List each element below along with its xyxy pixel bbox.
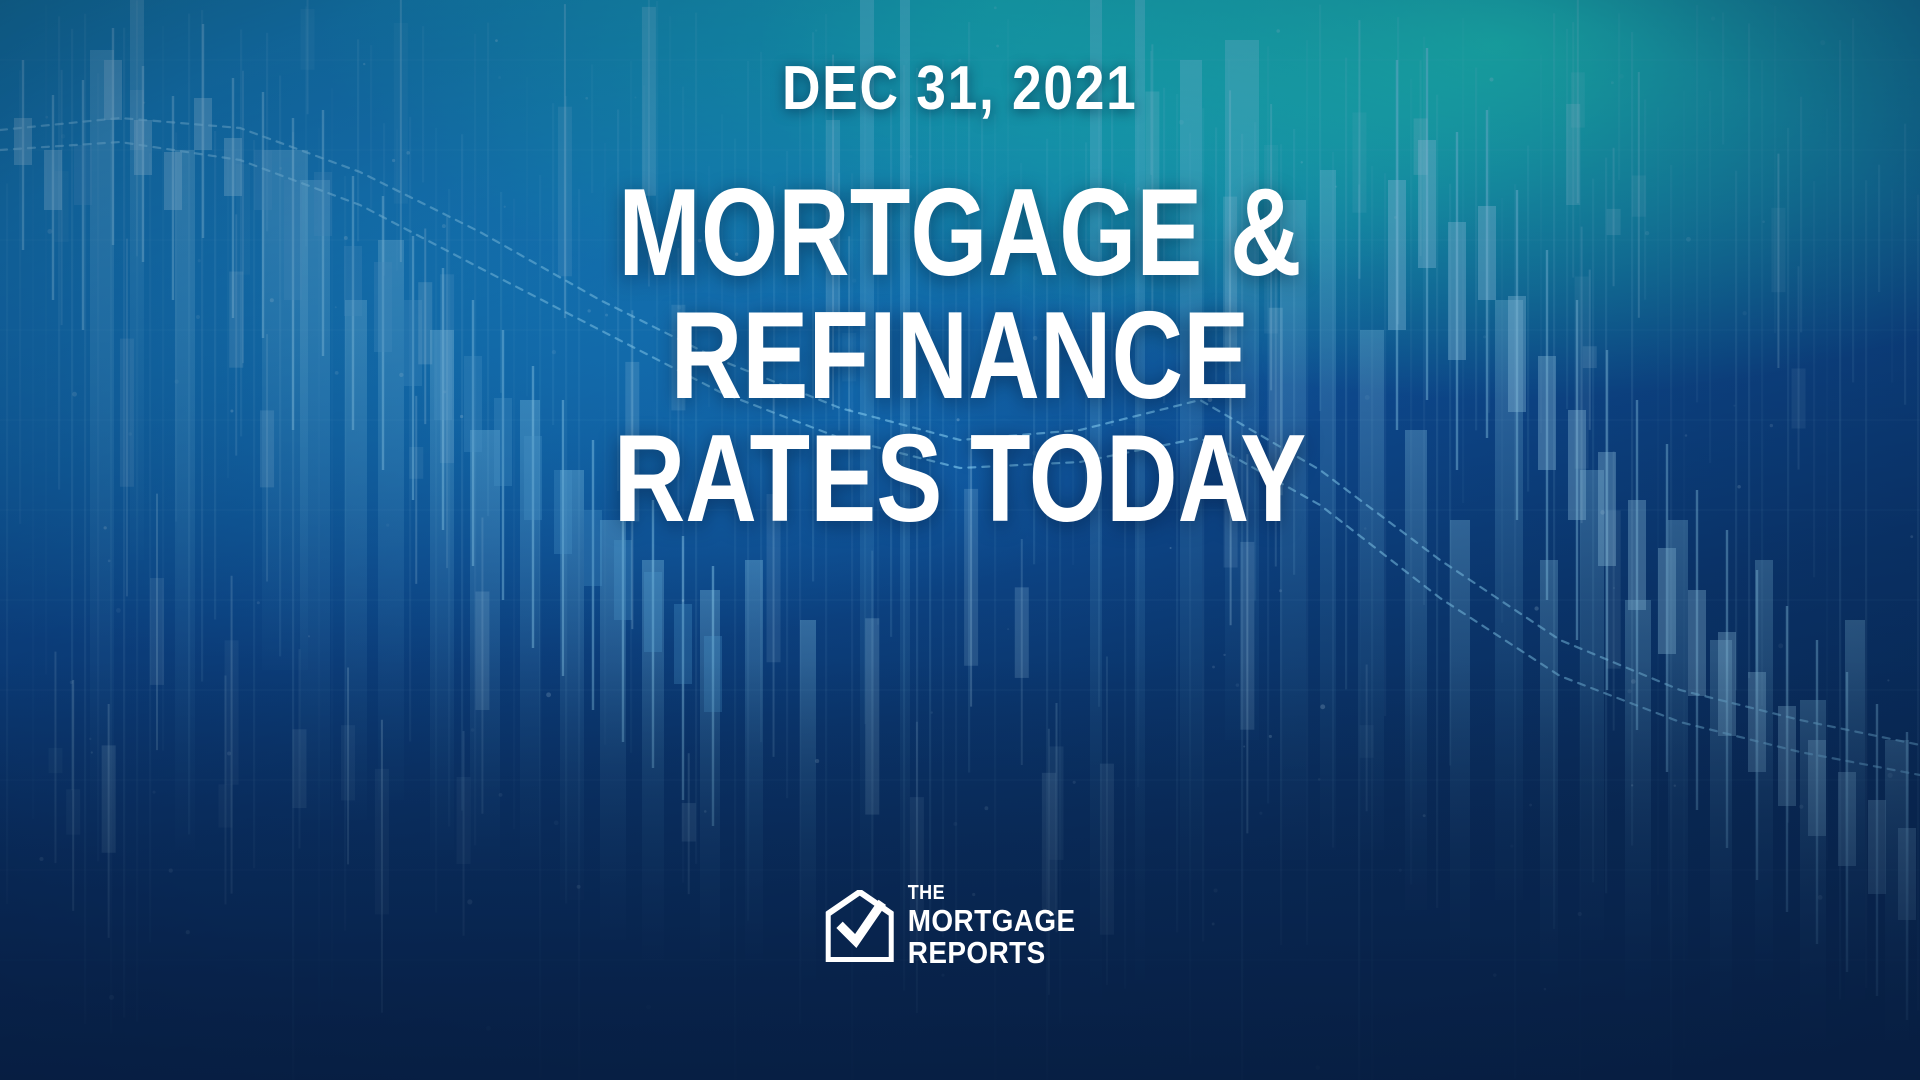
headline: MORTGAGE & REFINANCE RATES TODAY bbox=[527, 172, 1393, 540]
headline-line-1: MORTGAGE & bbox=[614, 172, 1307, 295]
logo-line-mortgage: MORTGAGE bbox=[908, 905, 1076, 936]
headline-line-3: RATES TODAY bbox=[614, 418, 1307, 541]
date-label: DEC 31, 2021 bbox=[782, 58, 1138, 120]
house-checkmark-icon bbox=[826, 890, 894, 962]
logo-line-reports: REPORTS bbox=[908, 937, 1076, 968]
headline-line-2: REFINANCE bbox=[614, 295, 1307, 418]
brand-logo: THE MORTGAGE REPORTS bbox=[826, 883, 1095, 968]
rate-update-graphic: DEC 31, 2021 MORTGAGE & REFINANCE RATES … bbox=[0, 0, 1920, 1080]
logo-line-the: THE bbox=[908, 883, 1076, 903]
logo-wordmark: THE MORTGAGE REPORTS bbox=[908, 883, 1095, 968]
